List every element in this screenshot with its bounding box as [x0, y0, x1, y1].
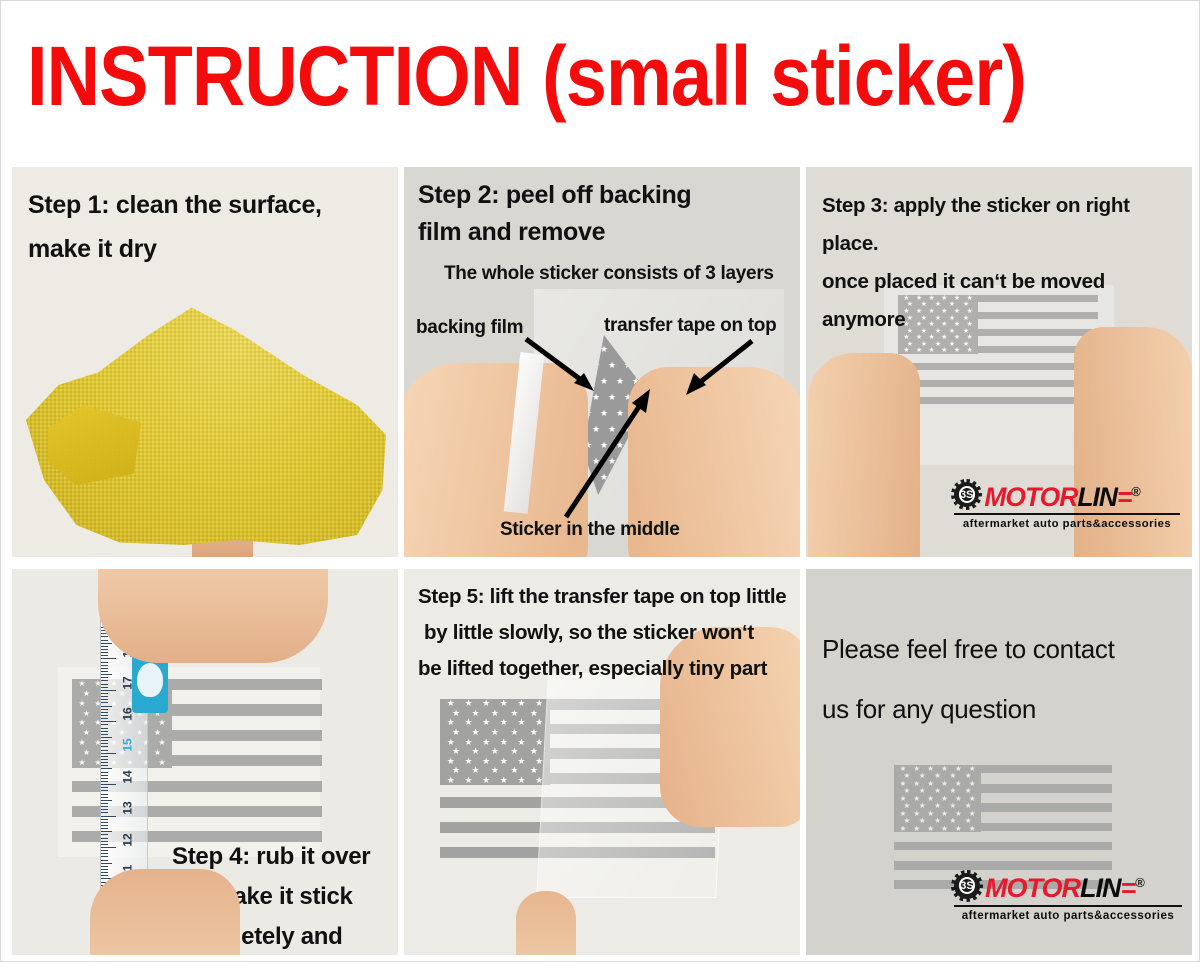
- ruler-tick: [101, 875, 108, 876]
- flag-star: ★: [78, 680, 85, 688]
- flag-star: ★: [900, 825, 907, 833]
- flag-star: ★: [969, 825, 976, 833]
- panel-step-3: Step 3: apply the sticker on right place…: [806, 167, 1192, 557]
- ruler-tick: [101, 863, 112, 864]
- ruler-tick: [101, 702, 108, 703]
- flag-star: ★: [941, 765, 948, 772]
- ruler-tick: [101, 734, 108, 735]
- flag-stripe: [898, 397, 1098, 404]
- ruler-tick: [101, 768, 112, 769]
- ruler-tick: [101, 743, 108, 744]
- ruler-tick: [101, 847, 116, 848]
- flag-star: ★: [500, 776, 508, 785]
- panel-step-1: Step 1: clean the surface, make it dry: [12, 167, 398, 557]
- motorline-logo: 3SMOTORLIN=®aftermarket auto parts&acces…: [954, 479, 1180, 530]
- bottom-hand: [90, 869, 240, 955]
- ruler-tick: [101, 838, 108, 839]
- logo-word-lin: LIN: [1077, 482, 1117, 512]
- flag-star: ★: [941, 795, 948, 803]
- flag-star: ★: [83, 690, 90, 698]
- logo-word-lin: LIN: [1080, 873, 1121, 903]
- ruler-tick: [101, 853, 108, 854]
- ruler-tick: [101, 640, 108, 641]
- flag-stripe: [898, 380, 1098, 387]
- flag-star: ★: [471, 709, 479, 718]
- flag-star: ★: [530, 766, 538, 775]
- logo-divider: [954, 513, 1180, 515]
- flag-star: ★: [517, 738, 525, 747]
- flag-star: ★: [158, 739, 165, 747]
- flag-star-row: ★★★★★★: [440, 776, 550, 786]
- ruler-tick: [101, 712, 108, 713]
- contact-caption-line-2: us for any question: [822, 689, 1036, 729]
- ruler-tick: [101, 860, 108, 861]
- flag-star: ★: [955, 795, 962, 803]
- flag-star: ★: [517, 776, 525, 785]
- flag-star: ★: [934, 772, 941, 780]
- bottom-thumb: [516, 891, 576, 955]
- flag-star: ★: [491, 766, 499, 775]
- flag-star: ★: [482, 699, 490, 708]
- flag-star-row: ★★★★★★: [898, 348, 978, 355]
- flag-star: ★: [916, 347, 922, 354]
- ruler-tick: [101, 709, 108, 710]
- flag-star: ★: [966, 347, 972, 354]
- ruler-tick: [101, 787, 108, 788]
- flag-star: ★: [510, 766, 518, 775]
- ruler-tick: [101, 831, 112, 832]
- ruler-tick: [101, 819, 108, 820]
- panel-step-5: Step 5: lift the transfer tape on top li…: [404, 569, 800, 955]
- ruler-tick: [101, 756, 108, 757]
- flag-star: ★: [482, 718, 490, 727]
- ruler-tick: [101, 869, 108, 870]
- ruler-tick: [101, 684, 108, 685]
- flag-star-row: ★★★★★: [440, 766, 550, 776]
- label-backing-film: backing film: [416, 317, 523, 339]
- label-transfer-tape: transfer tape on top: [604, 315, 776, 337]
- flag-star: ★: [535, 699, 543, 708]
- flag-stripe: [894, 842, 1112, 850]
- ruler-tick: [101, 809, 108, 810]
- gear-icon: 3S: [954, 482, 979, 507]
- flag-star: ★: [452, 766, 460, 775]
- ruler-tick: [101, 806, 108, 807]
- ruler-tick: [101, 816, 116, 817]
- ruler-tick: [101, 794, 108, 795]
- logo-tagline: aftermarket auto parts&accessories: [954, 518, 1180, 530]
- flag-star: ★: [500, 699, 508, 708]
- logo-tagline: aftermarket auto parts&accessories: [954, 910, 1182, 922]
- gear-label: 3S: [954, 873, 980, 899]
- flag-star: ★: [934, 787, 941, 795]
- logo-wordmark-row: 3SMOTORLIN=®: [954, 869, 1182, 902]
- flag-star: ★: [83, 749, 90, 757]
- flag-star-row: ★★★★★: [440, 728, 550, 738]
- decal-character: [137, 663, 163, 697]
- arrow-to-transfer-tape: [672, 335, 762, 407]
- step-2-subtitle: The whole sticker consists of 3 layers: [444, 263, 800, 285]
- ruler-tick: [101, 753, 116, 754]
- flag-star: ★: [158, 719, 165, 727]
- flag-star: ★: [517, 699, 525, 708]
- ruler-tick: [101, 706, 112, 707]
- ruler-tick: [101, 643, 112, 644]
- flag-star: ★: [78, 719, 85, 727]
- ruler-tick: [101, 662, 108, 663]
- ruler-tick: [101, 668, 108, 669]
- ruler-tick: [101, 646, 108, 647]
- ruler-tick: [101, 655, 108, 656]
- flag-canton: ★★★★★★★★★★★★★★★★★★★★★★★★★★★★★★★★★★★★★★★★…: [894, 765, 981, 832]
- flag-star: ★: [927, 765, 934, 772]
- flag-star: ★: [927, 780, 934, 788]
- step-5-caption-line-3: be lifted together, especially tiny part: [418, 651, 767, 687]
- flag-star: ★: [471, 766, 479, 775]
- ruler-tick: [101, 677, 108, 678]
- step-3-caption-line-2: once placed it can‘t be moved anymore: [822, 263, 1182, 339]
- logo-wordmark: MOTORLIN=®: [984, 479, 1139, 510]
- flag-star: ★: [447, 776, 455, 785]
- logo-divider: [954, 905, 1182, 907]
- flag-star: ★: [941, 810, 948, 818]
- ruler-number: 12: [121, 833, 135, 846]
- flag-star-row: ★★★★★: [440, 709, 550, 719]
- flag-stripe: [898, 363, 1098, 370]
- ruler-tick: [101, 724, 108, 725]
- logo-registered-mark: ®: [1135, 875, 1144, 890]
- ruler-tick: [101, 803, 108, 804]
- flag-star: ★: [491, 709, 499, 718]
- flag-star: ★: [913, 825, 920, 833]
- step-3-caption: Step 3: apply the sticker on right place…: [822, 187, 1182, 339]
- flag-star: ★: [482, 757, 490, 766]
- flag-star: ★: [530, 747, 538, 756]
- arrow-to-sticker-middle: [554, 383, 664, 523]
- logo-word-motor: MOTOR: [985, 873, 1080, 903]
- flag-star: ★: [471, 747, 479, 756]
- ruler-number: 15: [121, 739, 135, 752]
- steps-grid: Step 1: clean the surface, make it dry S…: [12, 167, 1192, 955]
- ruler-tick: [101, 866, 108, 867]
- flag-star: ★: [158, 759, 165, 767]
- ruler-tick: [101, 825, 108, 826]
- ruler-tick: [101, 696, 108, 697]
- ruler-tick: [101, 721, 116, 722]
- flag-star: ★: [83, 710, 90, 718]
- ruler-tick: [101, 649, 108, 650]
- ruler-tick: [101, 778, 108, 779]
- flag-star: ★: [482, 738, 490, 747]
- ruler-tick: [101, 750, 108, 751]
- flag-star: ★: [927, 795, 934, 803]
- flag-star: ★: [941, 780, 948, 788]
- ruler-tick: [101, 841, 108, 842]
- flag-star: ★: [903, 347, 909, 354]
- ruler-tick: [101, 822, 108, 823]
- flag-star: ★: [934, 802, 941, 810]
- flag-star: ★: [517, 718, 525, 727]
- panel-contact: Please feel free to contact us for any q…: [806, 569, 1192, 955]
- ruler-tick: [101, 674, 112, 675]
- flag-star: ★: [941, 825, 948, 833]
- ruler-tick: [101, 828, 108, 829]
- flag-star: ★: [500, 757, 508, 766]
- flag-star: ★: [491, 728, 499, 737]
- flag-star: ★: [78, 700, 85, 708]
- flag-star: ★: [941, 347, 947, 354]
- ruler-tick: [101, 658, 116, 659]
- logo-wordmark: MOTORLIN=®: [985, 869, 1144, 902]
- flag-star: ★: [955, 765, 962, 772]
- step-2-caption-line-1: Step 2: peel off backing: [418, 177, 788, 214]
- ruler-number: 13: [121, 802, 135, 815]
- flag-star: ★: [78, 739, 85, 747]
- ruler-tick: [101, 781, 108, 782]
- ruler-tick: [101, 680, 108, 681]
- ruler-tick: [101, 772, 108, 773]
- panel-step-4: ★★★★★★★★★★★★★★★★★★★★★★★★★★★★★★★★★★★★★★★★…: [12, 569, 398, 955]
- flag-star: ★: [78, 759, 85, 767]
- ruler-tick: [101, 636, 108, 637]
- flag-star: ★: [929, 347, 935, 354]
- flag-star: ★: [955, 780, 962, 788]
- ruler-tick: [101, 765, 108, 766]
- ruler-number: 14: [121, 770, 135, 783]
- step-2-caption-line-2: film and remove: [418, 214, 788, 251]
- flag-star: ★: [500, 718, 508, 727]
- flag-star: ★: [482, 776, 490, 785]
- flag-star: ★: [471, 728, 479, 737]
- flag-star: ★: [955, 825, 962, 833]
- flag-star: ★: [530, 728, 538, 737]
- top-hand: [98, 569, 328, 663]
- step-1-caption: Step 1: clean the surface, make it dry: [28, 183, 388, 271]
- step-5-caption-line-1: Step 5: lift the transfer tape on top li…: [418, 579, 786, 615]
- motorline-logo: 3SMOTORLIN=®aftermarket auto parts&acces…: [954, 869, 1182, 922]
- flag-star: ★: [452, 747, 460, 756]
- ruler-tick: [101, 834, 108, 835]
- logo-equals-mark: =: [1117, 482, 1131, 512]
- logo-equals-mark: =: [1121, 873, 1136, 903]
- flag-star: ★: [510, 747, 518, 756]
- ruler-tick: [101, 800, 112, 801]
- ruler-tick: [101, 728, 108, 729]
- flag-star: ★: [927, 825, 934, 833]
- flag-star: ★: [83, 729, 90, 737]
- ruler-tick: [101, 784, 116, 785]
- ruler-tick: [101, 671, 108, 672]
- ruler-tick: [101, 690, 116, 691]
- flag-star: ★: [500, 738, 508, 747]
- flag-star: ★: [510, 728, 518, 737]
- page-title-text: INSTRUCTION (small sticker): [27, 34, 1026, 118]
- gear-icon: 3S: [954, 873, 980, 899]
- flag-star: ★: [154, 729, 161, 737]
- ruler-tick: [101, 850, 108, 851]
- logo-registered-mark: ®: [1131, 484, 1139, 499]
- page-title: INSTRUCTION (small sticker): [1, 1, 1200, 151]
- flag-star: ★: [955, 810, 962, 818]
- logo-wordmark-row: 3SMOTORLIN=®: [954, 479, 1180, 510]
- step-2-caption: Step 2: peel off backing film and remove: [418, 177, 788, 251]
- ruler-tick: [101, 693, 108, 694]
- ruler-tick: [101, 746, 108, 747]
- panel-step-2: Step 2: peel off backing film and remove…: [404, 167, 800, 557]
- ruler-tick: [101, 797, 108, 798]
- ruler-tick: [101, 665, 108, 666]
- instruction-sheet: INSTRUCTION (small sticker) Step 1: clea…: [0, 0, 1200, 962]
- ruler-tick: [101, 856, 108, 857]
- flag-star: ★: [954, 347, 960, 354]
- ruler-tick: [101, 731, 108, 732]
- flag-star: ★: [447, 699, 455, 708]
- ruler-tick: [101, 718, 108, 719]
- logo-word-motor: MOTOR: [984, 482, 1077, 512]
- flag-star: ★: [927, 810, 934, 818]
- ruler-tick: [101, 872, 108, 873]
- flag-star: ★: [517, 757, 525, 766]
- contact-caption-line-1: Please feel free to contact: [822, 629, 1115, 669]
- gear-label: 3S: [954, 482, 979, 507]
- flag-canton: ★★★★★★★★★★★★★★★★★★★★★★★★★★★★★★★★★★★★★★★★…: [440, 699, 550, 785]
- ruler-tick: [101, 762, 108, 763]
- towel-photo: [26, 295, 386, 545]
- step-5-caption-line-2: by little slowly, so the sticker won‘t: [424, 615, 754, 651]
- ruler-tick: [101, 759, 108, 760]
- ruler-tick: [101, 699, 108, 700]
- ruler-tick: [101, 844, 108, 845]
- label-sticker-middle: Sticker in the middle: [500, 519, 680, 541]
- step-3-caption-line-1: Step 3: apply the sticker on right place…: [822, 187, 1182, 263]
- flag-star: ★: [464, 776, 472, 785]
- flag-star: ★: [491, 747, 499, 756]
- left-hand: [808, 353, 920, 557]
- flag-star: ★: [154, 749, 161, 757]
- ruler-tick: [101, 775, 108, 776]
- flag-star: ★: [934, 817, 941, 825]
- ruler-tick: [101, 790, 108, 791]
- flag-star: ★: [464, 699, 472, 708]
- ruler-tick: [101, 652, 108, 653]
- ruler-tick: [101, 737, 112, 738]
- flag-star-row: ★★★★★: [440, 747, 550, 757]
- ruler-tick: [101, 812, 108, 813]
- ruler-tick: [101, 740, 108, 741]
- ruler-tick: [101, 687, 108, 688]
- flag-star-row: ★★★★★★: [894, 825, 981, 832]
- flag-star: ★: [452, 728, 460, 737]
- ruler-tick: [101, 715, 108, 716]
